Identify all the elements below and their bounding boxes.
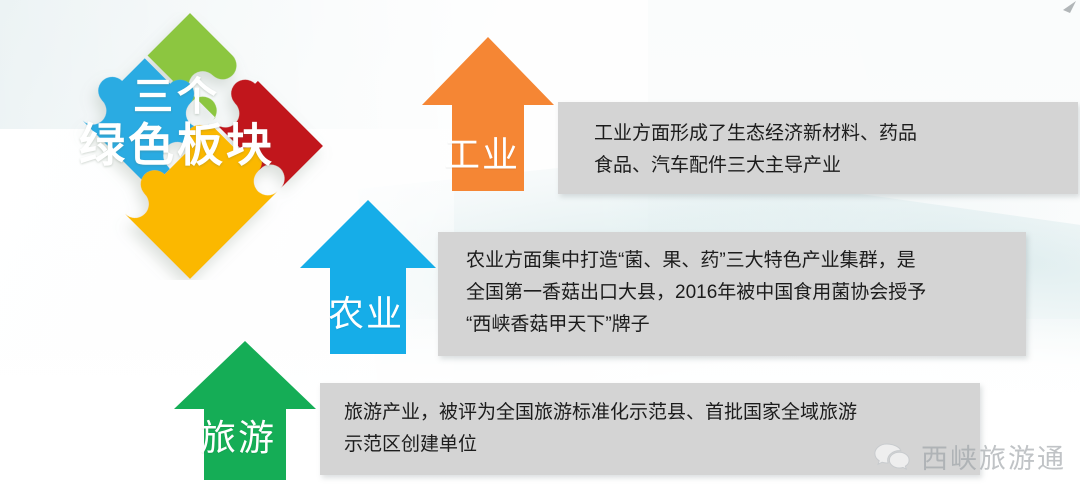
section-industry-text-bar: 工业方面形成了生态经济新材料、药品 食品、汽车配件三大主导产业: [558, 102, 1078, 194]
section-industry-text-line-1: 工业方面形成了生态经济新材料、药品: [594, 118, 1078, 150]
watermark: 西峡旅游通: [873, 437, 1066, 476]
puzzle-graphic: [40, 12, 340, 280]
section-agriculture-text-line-1: 农业方面集中打造“菌、果、药”三大特色产业集群，是: [466, 245, 1026, 277]
section-industry-label: 工业: [444, 126, 520, 178]
wechat-icon: [873, 441, 911, 473]
slide-canvas: 三个 绿色板块 工业方面形成了生态经济新材料、药品 食品、汽车配件三大主导产业 …: [0, 0, 1080, 498]
section-agriculture: 农业方面集中打造“菌、果、药”三大特色产业集群，是 全国第一香菇出口大县，201…: [296, 196, 1026, 356]
section-tourism: 旅游产业，被评为全国旅游标准化示范县、首批国家全域旅游 示范区创建单位 旅游: [170, 337, 980, 482]
section-agriculture-label: 农业: [328, 285, 404, 337]
section-industry: 工业方面形成了生态经济新材料、药品 食品、汽车配件三大主导产业 工业: [418, 33, 1078, 193]
section-tourism-text-line-1: 旅游产业，被评为全国旅游标准化示范县、首批国家全域旅游: [344, 397, 980, 429]
corner-mark-icon: [1050, 0, 1078, 16]
section-agriculture-text-line-2: 全国第一香菇出口大县，2016年被中国食用菌协会授予: [466, 277, 1026, 309]
section-tourism-label: 旅游: [200, 409, 276, 461]
section-industry-text-line-2: 食品、汽车配件三大主导产业: [594, 150, 1078, 182]
watermark-text: 西峡旅游通: [921, 437, 1066, 476]
